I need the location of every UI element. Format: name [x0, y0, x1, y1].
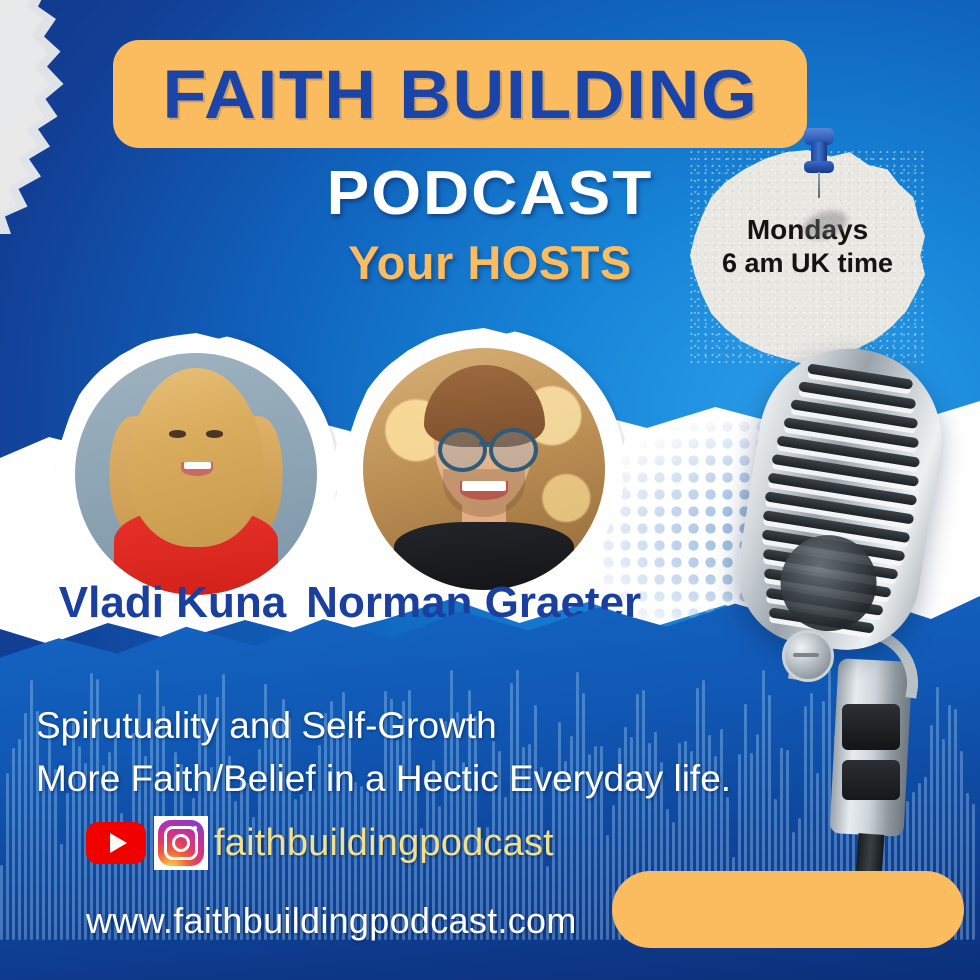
instagram-icon[interactable] [154, 816, 208, 870]
website-url[interactable]: www.faithbuildingpodcast.com [86, 900, 577, 942]
schedule-note: Mondays 6 am UK time [690, 150, 925, 365]
podcast-promo-poster: FAITH BUILDING PODCAST Your HOSTS Monday… [0, 0, 980, 980]
hosts-label-strong: HOSTS [467, 236, 631, 289]
pushpin-icon [798, 128, 840, 198]
title-banner: FAITH BUILDING [113, 40, 807, 148]
social-row[interactable]: faithbuildingpodcast [86, 816, 554, 870]
page-title: FAITH BUILDING [162, 55, 758, 134]
host-name-1: Vladi Kuna [59, 578, 286, 627]
avatar-vladi-kuna [75, 353, 317, 595]
note-line-2: 6 am UK time [690, 247, 925, 281]
youtube-icon[interactable] [86, 822, 146, 864]
host-photo-1 [67, 345, 325, 603]
cta-pill-placeholder[interactable] [612, 871, 964, 948]
avatar-norman-graeter [363, 348, 605, 590]
host-photo-2 [355, 340, 613, 598]
hosts-label-prefix: Your [348, 236, 467, 289]
vintage-microphone-icon [738, 348, 968, 908]
social-handle[interactable]: faithbuildingpodcast [214, 822, 554, 865]
